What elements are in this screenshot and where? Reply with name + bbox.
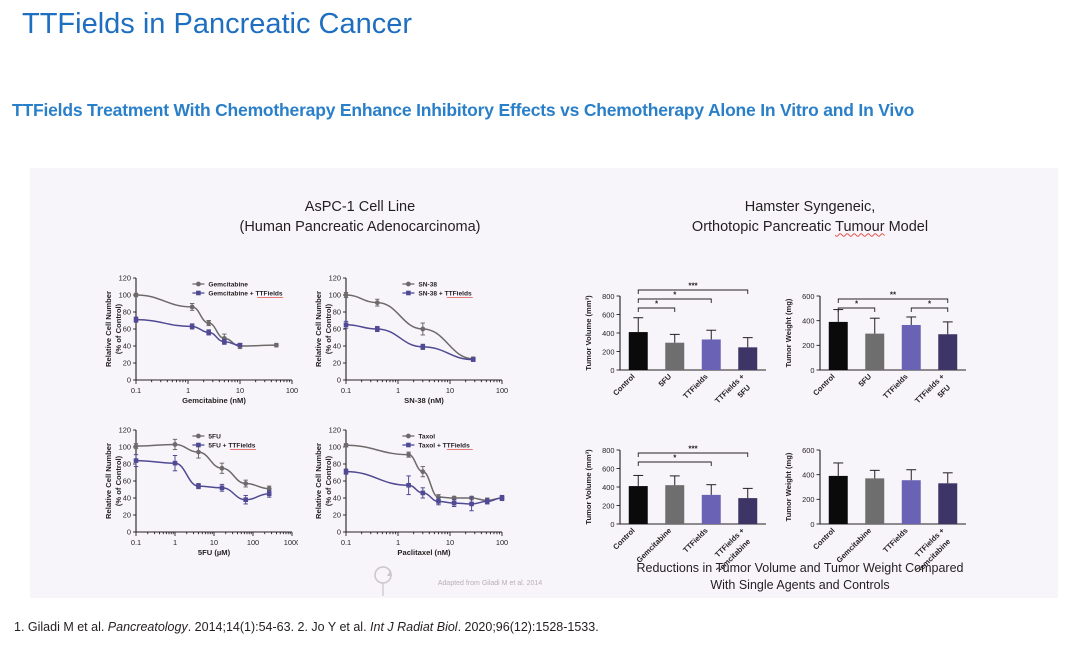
svg-text:80: 80 — [123, 308, 131, 317]
svg-text:TTFields: TTFields — [881, 372, 909, 400]
svg-text:800: 800 — [602, 292, 614, 301]
bar-5fu — [665, 334, 684, 370]
citation-ref1-journal: Pancreatology — [108, 620, 188, 634]
svg-text:*: * — [673, 454, 677, 463]
svg-text:40: 40 — [333, 494, 341, 503]
svg-text:Relative Cell Number: Relative Cell Number — [314, 291, 323, 367]
chart-5fu-dose-response: 0204060801001200.11101001000Relative Cel… — [102, 420, 298, 558]
bar-ttfields-5fu — [938, 322, 957, 370]
significance-bracket: * — [838, 300, 875, 313]
svg-text:5FU: 5FU — [208, 433, 221, 440]
in-vivo-summary-line2: With Single Agents and Controls — [575, 577, 1025, 594]
svg-text:100: 100 — [119, 443, 131, 452]
in-vivo-summary-caption: Reductions in Tumor Volume and Tumor Wei… — [575, 560, 1025, 594]
svg-text:Tumor Volume (mm³): Tumor Volume (mm³) — [584, 449, 593, 525]
svg-text:TTFields: TTFields — [881, 526, 909, 554]
plot-tumor-volume-5fu: 0200400600800Tumor Volume (mm³)*****Cont… — [582, 266, 772, 416]
svg-text:400: 400 — [602, 329, 614, 338]
svg-text:100: 100 — [496, 386, 508, 395]
svg-text:400: 400 — [602, 483, 614, 492]
svg-text:(% of Control): (% of Control) — [114, 303, 123, 354]
svg-text:(% of Control): (% of Control) — [324, 303, 333, 354]
svg-text:60: 60 — [333, 325, 341, 334]
svg-text:0: 0 — [810, 366, 814, 375]
bar-ttfields — [702, 330, 721, 370]
svg-text:10: 10 — [210, 538, 218, 547]
svg-text:0: 0 — [337, 528, 341, 537]
svg-text:600: 600 — [602, 310, 614, 319]
significance-bracket: * — [911, 300, 948, 313]
svg-text:120: 120 — [329, 426, 341, 435]
rotate-watermark-icon — [370, 563, 400, 597]
svg-text:(% of Control): (% of Control) — [114, 455, 123, 506]
bar-control — [629, 318, 648, 370]
svg-text:TTFields: TTFields — [681, 372, 709, 400]
svg-text:10: 10 — [446, 386, 454, 395]
svg-text:400: 400 — [802, 316, 814, 325]
svg-text:60: 60 — [333, 477, 341, 486]
bar-control — [629, 475, 648, 524]
bar-ttfields-5fu — [738, 338, 757, 370]
significance-bracket: * — [638, 291, 711, 304]
plot-tumor-volume-gemcitabine: 0200400600800Tumor Volume (mm³)****Contr… — [582, 420, 772, 570]
bar-ttfields-gemcitabine — [938, 473, 957, 524]
svg-text:Gemcitabine (nM): Gemcitabine (nM) — [182, 396, 246, 405]
svg-text:600: 600 — [802, 446, 814, 455]
citation-ref2-prefix: 2. Jo Y et al. — [298, 620, 371, 634]
svg-text:100: 100 — [329, 443, 341, 452]
svg-text:***: *** — [688, 282, 698, 291]
citation: 1. Giladi M et al. Pancreatology. 2014;1… — [14, 620, 599, 634]
svg-text:0.1: 0.1 — [131, 386, 141, 395]
svg-text:20: 20 — [123, 359, 131, 368]
svg-text:200: 200 — [602, 501, 614, 510]
in-vivo-summary-line1: Reductions in Tumor Volume and Tumor Wei… — [575, 560, 1025, 577]
svg-text:80: 80 — [123, 460, 131, 469]
svg-text:20: 20 — [333, 511, 341, 520]
chart-tumor-volume-5fu: 0200400600800Tumor Volume (mm³)*****Cont… — [582, 266, 772, 416]
bar-control — [829, 310, 848, 370]
in-vivo-heading-line2-c: Model — [885, 219, 929, 235]
in-vitro-heading: AsPC-1 Cell Line (Human Pancreatic Adeno… — [150, 198, 570, 237]
citation-ref1-prefix: 1. Giladi M et al. — [14, 620, 108, 634]
plot-sn38: 0204060801001200.1110100Relative Cell Nu… — [312, 268, 508, 406]
svg-text:5FU (µM): 5FU (µM) — [198, 548, 231, 557]
svg-text:1: 1 — [396, 538, 400, 547]
plot-gemcitabine: 0204060801001200.1110100Relative Cell Nu… — [102, 268, 298, 406]
chart-gemcitabine-dose-response: 0204060801001200.1110100Relative Cell Nu… — [102, 268, 298, 406]
svg-text:100: 100 — [496, 538, 508, 547]
citation-ref2-suffix: . 2020;96(12):1528-1533. — [458, 620, 599, 634]
series-taxol-ttfields — [344, 469, 505, 511]
svg-text:Paclitaxel (nM): Paclitaxel (nM) — [397, 548, 451, 557]
svg-text:800: 800 — [602, 446, 614, 455]
svg-text:40: 40 — [333, 342, 341, 351]
svg-text:Control: Control — [811, 526, 836, 551]
bar-gemcitabine — [665, 476, 684, 524]
svg-text:SN-38: SN-38 — [418, 281, 437, 288]
chart-tumor-volume-gemcitabine: 0200400600800Tumor Volume (mm³)****Contr… — [582, 420, 772, 570]
svg-text:Taxol: Taxol — [418, 433, 435, 440]
svg-text:(% of Control): (% of Control) — [324, 455, 333, 506]
svg-text:*: * — [855, 300, 859, 309]
svg-text:40: 40 — [123, 494, 131, 503]
svg-text:Gemcitabine: Gemcitabine — [835, 526, 874, 565]
in-vivo-heading-tumour-word: Tumour — [835, 219, 884, 235]
significance-bracket: *** — [638, 445, 748, 458]
svg-text:120: 120 — [329, 274, 341, 283]
svg-text:40: 40 — [123, 342, 131, 351]
svg-text:**: ** — [890, 291, 897, 300]
svg-text:400: 400 — [802, 470, 814, 479]
page-title: TTFields in Pancreatic Cancer — [22, 8, 412, 41]
svg-text:Gemcitabine: Gemcitabine — [208, 281, 248, 288]
svg-text:200: 200 — [802, 341, 814, 350]
series-gemcitabine — [134, 293, 279, 349]
svg-text:1: 1 — [186, 386, 190, 395]
svg-text:0: 0 — [337, 376, 341, 385]
svg-text:80: 80 — [333, 460, 341, 469]
svg-text:Gemcitabine: Gemcitabine — [635, 526, 674, 565]
svg-text:10: 10 — [446, 538, 454, 547]
svg-text:5FU: 5FU — [657, 372, 674, 389]
in-vivo-heading-line1: Hamster Syngeneic, — [590, 198, 1030, 218]
svg-text:Control: Control — [611, 372, 636, 397]
chart-tumor-weight-5fu: 0200400600Tumor Weight (mg)****Control5F… — [782, 266, 972, 416]
in-vitro-heading-line1: AsPC-1 Cell Line — [150, 198, 570, 218]
significance-bracket: * — [638, 300, 675, 313]
bar-ttfields — [902, 470, 921, 524]
svg-text:Tumor Volume (mm³): Tumor Volume (mm³) — [584, 295, 593, 371]
plot-5fu: 0204060801001200.11101001000Relative Cel… — [102, 420, 298, 558]
svg-text:Tumor Weight (mg): Tumor Weight (mg) — [784, 298, 793, 367]
svg-text:0: 0 — [810, 520, 814, 529]
svg-text:*: * — [673, 291, 677, 300]
svg-text:0: 0 — [127, 376, 131, 385]
series-sn-38-ttfields — [344, 321, 476, 362]
bar-ttfields-gemcitabine — [738, 488, 757, 524]
svg-text:60: 60 — [123, 325, 131, 334]
significance-bracket: * — [638, 454, 711, 467]
svg-text:1000: 1000 — [284, 538, 298, 547]
svg-text:80: 80 — [333, 308, 341, 317]
svg-text:0: 0 — [610, 366, 614, 375]
plot-tumor-weight-5fu: 0200400600Tumor Weight (mg)****Control5F… — [782, 266, 972, 416]
svg-text:100: 100 — [329, 291, 341, 300]
chart-sn38-dose-response: 0204060801001200.1110100Relative Cell Nu… — [312, 268, 508, 406]
series-gemcitabine-ttfields — [134, 317, 243, 347]
bar-ttfields — [702, 485, 721, 524]
series-5fu-ttfields — [134, 455, 272, 504]
svg-text:Control: Control — [611, 526, 636, 551]
svg-text:Taxol + TTFields: Taxol + TTFields — [418, 442, 470, 449]
bar-5fu — [865, 318, 884, 370]
chart-tumor-weight-gemcitabine: 0200400600Tumor Weight (mg)ControlGemcit… — [782, 420, 972, 570]
svg-text:20: 20 — [123, 511, 131, 520]
svg-text:100: 100 — [119, 291, 131, 300]
svg-text:Gemcitabine + TTFields: Gemcitabine + TTFields — [208, 290, 283, 297]
svg-text:20: 20 — [333, 359, 341, 368]
svg-text:200: 200 — [802, 495, 814, 504]
svg-text:0.1: 0.1 — [341, 386, 351, 395]
in-vivo-heading-line2: Orthotopic Pancreatic Tumour Model — [590, 218, 1030, 238]
in-vivo-heading: Hamster Syngeneic, Orthotopic Pancreatic… — [590, 198, 1030, 237]
svg-text:5FU + TTFields: 5FU + TTFields — [208, 442, 255, 449]
svg-text:100: 100 — [286, 386, 298, 395]
svg-text:60: 60 — [123, 477, 131, 486]
svg-text:1: 1 — [396, 386, 400, 395]
svg-text:1: 1 — [173, 538, 177, 547]
plot-taxol: 0204060801001200.1110100Relative Cell Nu… — [312, 420, 508, 558]
svg-text:120: 120 — [119, 426, 131, 435]
svg-text:10: 10 — [236, 386, 244, 395]
svg-text:600: 600 — [802, 292, 814, 301]
citation-ref2-journal: Int J Radiat Biol — [370, 620, 458, 634]
svg-text:5FU: 5FU — [857, 372, 874, 389]
svg-text:600: 600 — [602, 464, 614, 473]
svg-text:Tumor Weight (mg): Tumor Weight (mg) — [784, 452, 793, 521]
svg-text:200: 200 — [602, 347, 614, 356]
svg-text:SN-38 + TTFields: SN-38 + TTFields — [418, 290, 472, 297]
figure-panel: AsPC-1 Cell Line (Human Pancreatic Adeno… — [30, 168, 1058, 598]
svg-text:***: *** — [688, 445, 698, 454]
svg-text:0.1: 0.1 — [131, 538, 141, 547]
svg-text:Relative Cell Number: Relative Cell Number — [314, 443, 323, 519]
svg-text:120: 120 — [119, 274, 131, 283]
plot-tumor-weight-gemcitabine: 0200400600Tumor Weight (mg)ControlGemcit… — [782, 420, 972, 570]
svg-text:TTFields: TTFields — [681, 526, 709, 554]
chart-taxol-dose-response: 0204060801001200.1110100Relative Cell Nu… — [312, 420, 508, 558]
svg-text:Relative Cell Number: Relative Cell Number — [104, 291, 113, 367]
svg-text:Control: Control — [811, 372, 836, 397]
slide-subtitle: TTFields Treatment With Chemotherapy Enh… — [12, 100, 1072, 121]
bar-ttfields — [902, 317, 921, 370]
bar-gemcitabine — [865, 470, 884, 524]
bar-control — [829, 463, 848, 524]
svg-text:Relative Cell Number: Relative Cell Number — [104, 443, 113, 519]
significance-bracket: *** — [638, 282, 748, 295]
svg-text:*: * — [928, 300, 932, 309]
svg-text:100: 100 — [247, 538, 259, 547]
svg-text:0: 0 — [127, 528, 131, 537]
svg-text:0.1: 0.1 — [341, 538, 351, 547]
in-vivo-heading-line2-a: Orthotopic Pancreatic — [692, 219, 835, 235]
svg-text:0: 0 — [610, 520, 614, 529]
svg-text:SN-38 (nM): SN-38 (nM) — [404, 396, 444, 405]
svg-text:*: * — [655, 300, 659, 309]
citation-ref1-suffix: . 2014;14(1):54-63. — [188, 620, 298, 634]
in-vitro-heading-line2: (Human Pancreatic Adenocarcinoma) — [150, 218, 570, 238]
